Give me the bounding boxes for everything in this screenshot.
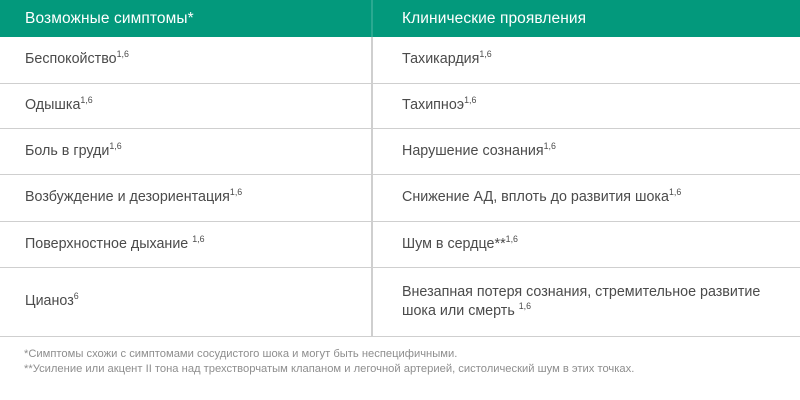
manifestation-reference: 1,6 [669, 187, 681, 197]
manifestation-cell: Внезапная потеря сознания, стремительное… [373, 267, 800, 336]
column-header-possible-symptoms-marker: * [188, 10, 194, 27]
manifestation-reference: 1,6 [506, 234, 518, 244]
manifestation-reference: 1,6 [479, 49, 491, 59]
manifestation-label: Нарушение сознания [402, 143, 544, 159]
table-row: Возбуждение и дезориентация1,6 Снижение … [0, 174, 800, 221]
manifestation-label: Тахипноэ [402, 97, 464, 113]
manifestation-cell: Шум в сердце**1,6 [373, 221, 800, 267]
symptom-reference: 6 [74, 291, 79, 301]
table-row: Одышка1,6 Тахипноэ1,6 [0, 83, 800, 128]
manifestation-label: Шум в сердце [402, 236, 495, 252]
symptoms-table-container: Возможные симптомы* Клинические проявлен… [0, 0, 800, 400]
footnote-double-asterisk: **Усиление или акцент II тона над трехст… [24, 362, 800, 377]
table-row: Беспокойство1,6 Тахикардия1,6 [0, 37, 800, 83]
symptom-label: Цианоз [25, 293, 74, 309]
symptom-cell: Поверхностное дыхание 1,6 [0, 221, 371, 267]
column-header-clinical-manifestations: Клинические проявления [373, 0, 800, 37]
manifestation-label: Тахикардия [402, 51, 479, 67]
manifestation-reference: 1,6 [519, 301, 531, 311]
symptom-cell: Возбуждение и дезориентация1,6 [0, 174, 371, 221]
symptom-label: Возбуждение и дезориентация [25, 189, 230, 205]
table-row: Боль в груди1,6 Нарушение сознания1,6 [0, 128, 800, 174]
manifestation-cell: Тахипноэ1,6 [373, 83, 800, 128]
table-row: Поверхностное дыхание 1,6 Шум в сердце**… [0, 221, 800, 267]
manifestation-label: Внезапная потеря сознания, стремительное… [402, 284, 760, 319]
symptom-reference: 1,6 [117, 49, 129, 59]
table-row: Цианоз6 Внезапная потеря сознания, стрем… [0, 267, 800, 336]
symptom-reference: 1,6 [80, 95, 92, 105]
footnotes: *Симптомы схожи с симптомами сосудистого… [0, 337, 800, 377]
manifestation-cell: Тахикардия1,6 [373, 37, 800, 83]
manifestation-stars: ** [495, 236, 506, 252]
symptom-label: Поверхностное дыхание [25, 236, 192, 252]
symptom-cell: Беспокойство1,6 [0, 37, 371, 83]
symptom-cell: Боль в груди1,6 [0, 128, 371, 174]
symptom-reference: 1,6 [192, 234, 204, 244]
footnote-single-asterisk: *Симптомы схожи с симптомами сосудистого… [24, 347, 800, 362]
manifestation-cell: Снижение АД, вплоть до развития шока1,6 [373, 174, 800, 221]
manifestation-cell: Нарушение сознания1,6 [373, 128, 800, 174]
symptom-label: Беспокойство [25, 51, 117, 67]
symptom-reference: 1,6 [109, 141, 121, 151]
column-header-possible-symptoms-label: Возможные симптомы [25, 10, 188, 27]
manifestation-label: Снижение АД, вплоть до развития шока [402, 189, 669, 205]
column-header-clinical-manifestations-label: Клинические проявления [402, 10, 586, 27]
symptom-label: Боль в груди [25, 143, 109, 159]
symptom-label: Одышка [25, 97, 80, 113]
symptoms-table: Возможные симптомы* Клинические проявлен… [0, 0, 800, 337]
manifestation-reference: 1,6 [544, 141, 556, 151]
column-header-possible-symptoms: Возможные симптомы* [0, 0, 371, 37]
symptom-reference: 1,6 [230, 187, 242, 197]
header-row: Возможные симптомы* Клинические проявлен… [0, 0, 800, 37]
symptom-cell: Цианоз6 [0, 267, 371, 336]
table-body: Беспокойство1,6 Тахикардия1,6 Одышка1,6 … [0, 37, 800, 336]
manifestation-reference: 1,6 [464, 95, 476, 105]
table-header: Возможные симптомы* Клинические проявлен… [0, 0, 800, 37]
symptom-cell: Одышка1,6 [0, 83, 371, 128]
